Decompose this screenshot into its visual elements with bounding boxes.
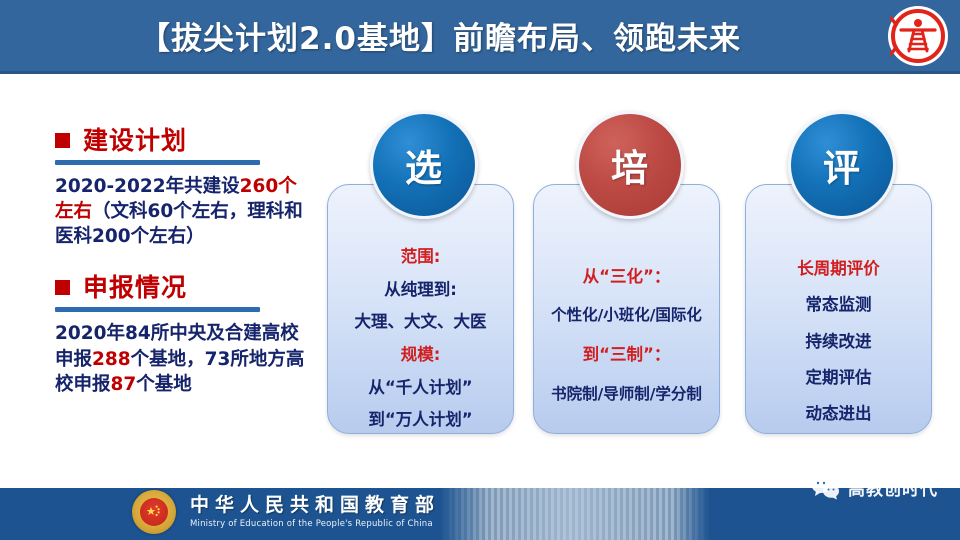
- section-application-status: 申报情况 2020年84所中央及合建高校申报288个基地，73所地方高校申报87…: [55, 275, 310, 396]
- card-line: 定期评估: [746, 360, 931, 396]
- square-bullet-icon: [55, 280, 70, 295]
- card-line: 从“三化”：: [534, 257, 719, 297]
- slide: 【拔尖计划2.0基地】前瞻布局、领跑未来 建设计划 2020-2022年共建设2…: [0, 0, 960, 540]
- body-part: （文科60个左右，理科和医科200个左右）: [55, 201, 303, 247]
- card-badge-select: 选: [370, 111, 478, 219]
- section-body: 2020-2022年共建设260个左右（文科60个左右，理科和医科200个左右）: [55, 174, 310, 249]
- card-line: 个性化/小班化/国际化: [534, 297, 719, 335]
- watermark: 高教创时代: [810, 475, 938, 500]
- slide-header: 【拔尖计划2.0基地】前瞻布局、领跑未来: [0, 0, 960, 74]
- ministry-block: 中华人民共和国教育部 Ministry of Education of the …: [132, 490, 440, 534]
- section-title: 申报情况: [83, 275, 187, 300]
- wechat-icon: [810, 476, 840, 500]
- card-line: 范围:: [328, 241, 513, 274]
- card-badge-evaluate: 评: [788, 111, 896, 219]
- card-badge-cultivate: 培: [576, 111, 684, 219]
- left-column: 建设计划 2020-2022年共建设260个左右（文科60个左右，理科和医科20…: [55, 128, 310, 423]
- card-line: 到“三制”：: [534, 335, 719, 375]
- square-bullet-icon: [55, 133, 70, 148]
- body-part-highlight: 288: [92, 349, 131, 370]
- body-part: 个基地: [136, 374, 192, 395]
- card-body: 范围: 从纯理到: 大理、大文、大医 规模: 从“千人计划” 到“万人计划”: [328, 241, 513, 437]
- section-body: 2020年84所中央及合建高校申报288个基地，73所地方高校申报87个基地: [55, 321, 310, 396]
- card-line: 大理、大文、大医: [328, 306, 513, 339]
- university-emblem-icon: [888, 6, 948, 66]
- card-line: 常态监测: [746, 287, 931, 323]
- body-part: 2020-2022年共建设: [55, 176, 240, 197]
- emblem-center: [140, 498, 168, 526]
- section-heading: 申报情况: [55, 275, 310, 300]
- card-line: 动态进出: [746, 396, 931, 432]
- card-body: 长周期评价 常态监测 持续改进 定期评估 动态进出: [746, 251, 931, 432]
- card-body: 从“三化”： 个性化/小班化/国际化 到“三制”： 书院制/导师制/学分制: [534, 257, 719, 414]
- ministry-name-en: Ministry of Education of the People's Re…: [190, 519, 440, 529]
- section-underline: [55, 160, 260, 165]
- section-heading: 建设计划: [55, 128, 310, 153]
- ministry-text: 中华人民共和国教育部 Ministry of Education of the …: [190, 495, 440, 529]
- section-construction-plan: 建设计划 2020-2022年共建设260个左右（文科60个左右，理科和医科20…: [55, 128, 310, 249]
- card-select[interactable]: 选 范围: 从纯理到: 大理、大文、大医 规模: 从“千人计划” 到“万人计划”: [327, 184, 514, 434]
- card-line: 规模:: [328, 339, 513, 372]
- card-line: 到“万人计划”: [328, 404, 513, 437]
- ministry-name-cn: 中华人民共和国教育部: [190, 495, 440, 517]
- card-line: 书院制/导师制/学分制: [534, 376, 719, 414]
- national-emblem-icon: [132, 490, 176, 534]
- section-underline: [55, 307, 260, 312]
- section-title: 建设计划: [83, 128, 187, 153]
- page-title: 【拔尖计划2.0基地】前瞻布局、领跑未来: [0, 0, 880, 71]
- card-evaluate[interactable]: 评 长周期评价 常态监测 持续改进 定期评估 动态进出: [745, 184, 932, 434]
- watermark-text: 高教创时代: [848, 475, 938, 500]
- body-part-highlight: 87: [111, 374, 137, 395]
- card-line: 从“千人计划”: [328, 372, 513, 405]
- card-line: 长周期评价: [746, 251, 931, 287]
- card-line: 持续改进: [746, 324, 931, 360]
- building-photo: [440, 488, 710, 540]
- card-line: 从纯理到:: [328, 274, 513, 307]
- card-cultivate[interactable]: 培 从“三化”： 个性化/小班化/国际化 到“三制”： 书院制/导师制/学分制: [533, 184, 720, 434]
